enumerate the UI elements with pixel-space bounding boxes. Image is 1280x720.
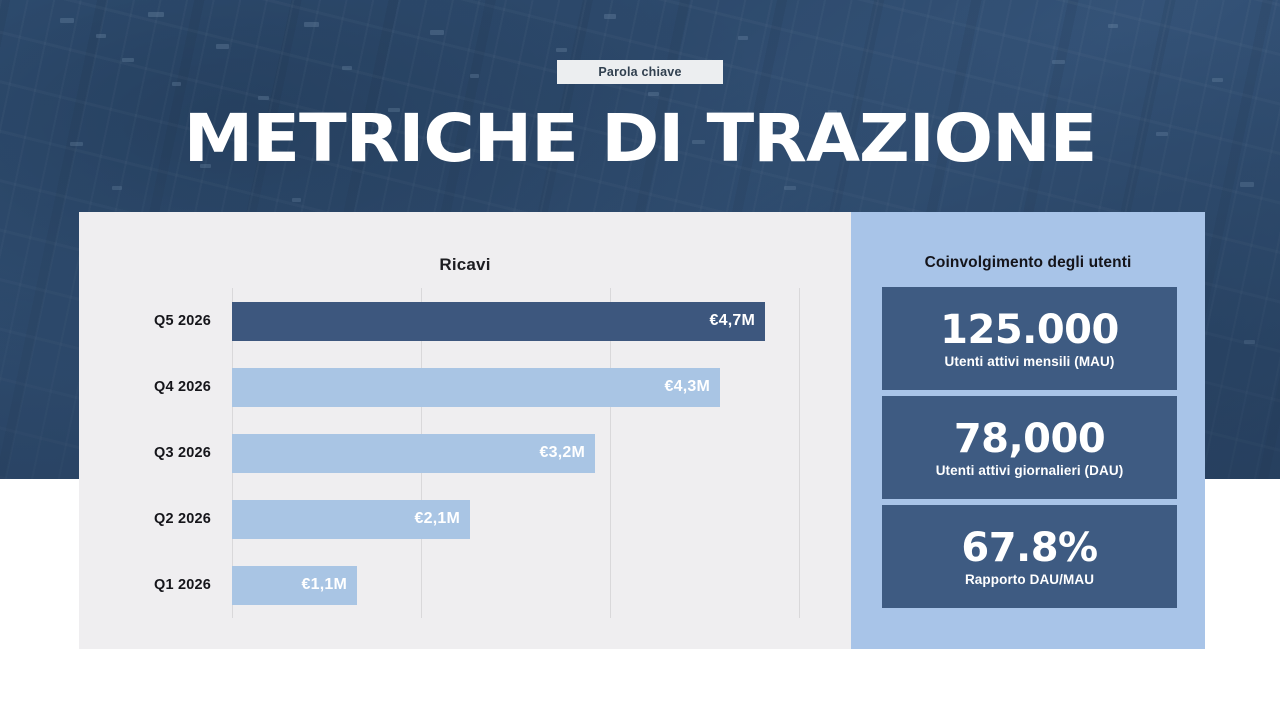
user-engagement-panel: Coinvolgimento degli utenti 125.000Utent… [851, 212, 1205, 649]
chart-category-label: Q1 2026 [154, 577, 211, 593]
chart-category-label: Q3 2026 [154, 445, 211, 461]
chart-bar-value-label: €1,1M [302, 576, 347, 594]
chart-bar[interactable]: €2,1M [232, 500, 470, 539]
chart-bar[interactable]: €1,1M [232, 566, 357, 605]
chart-bar[interactable]: €4,7M [232, 302, 765, 341]
kpi-label: Utenti attivi giornalieri (DAU) [936, 463, 1124, 478]
keyword-badge: Parola chiave [557, 60, 723, 84]
chart-bar-value-label: €4,7M [710, 312, 755, 330]
kpi-card: 78,000Utenti attivi giornalieri (DAU) [882, 396, 1177, 499]
chart-bar-value-label: €3,2M [540, 444, 585, 462]
chart-bar-value-label: €4,3M [665, 378, 710, 396]
kpi-card-list: 125.000Utenti attivi mensili (MAU)78,000… [882, 287, 1177, 614]
chart-bar-row: Q5 2026€4,7M [232, 288, 799, 354]
chart-bar-rows: Q5 2026€4,7MQ4 2026€4,3MQ3 2026€3,2MQ2 2… [232, 288, 799, 618]
kpi-value: 125.000 [940, 308, 1119, 352]
chart-bar-row: Q2 2026€2,1M [232, 486, 799, 552]
chart-category-label: Q4 2026 [154, 379, 211, 395]
kpi-card: 125.000Utenti attivi mensili (MAU) [882, 287, 1177, 390]
chart-bar-value-label: €2,1M [415, 510, 460, 528]
keyword-badge-label: Parola chiave [598, 65, 681, 79]
chart-bar-row: Q3 2026€3,2M [232, 420, 799, 486]
page-title: METRICHE DI TRAZIONE [0, 103, 1280, 175]
kpi-panel-heading: Coinvolgimento degli utenti [851, 254, 1205, 272]
chart-category-label: Q5 2026 [154, 313, 211, 329]
kpi-label: Utenti attivi mensili (MAU) [945, 354, 1115, 369]
kpi-card: 67.8%Rapporto DAU/MAU [882, 505, 1177, 608]
chart-title: Ricavi [79, 255, 851, 275]
kpi-label: Rapporto DAU/MAU [965, 572, 1094, 587]
chart-bar-row: Q4 2026€4,3M [232, 354, 799, 420]
kpi-value: 78,000 [954, 417, 1105, 461]
chart-bar[interactable]: €3,2M [232, 434, 595, 473]
chart-gridline [799, 288, 800, 618]
chart-category-label: Q2 2026 [154, 511, 211, 527]
kpi-value: 67.8% [961, 526, 1097, 570]
chart-bar[interactable]: €4,3M [232, 368, 720, 407]
chart-plot-area: Q5 2026€4,7MQ4 2026€4,3MQ3 2026€3,2MQ2 2… [232, 288, 799, 618]
chart-bar-row: Q1 2026€1,1M [232, 552, 799, 618]
revenue-chart-panel: Ricavi Q5 2026€4,7MQ4 2026€4,3MQ3 2026€3… [79, 212, 851, 649]
